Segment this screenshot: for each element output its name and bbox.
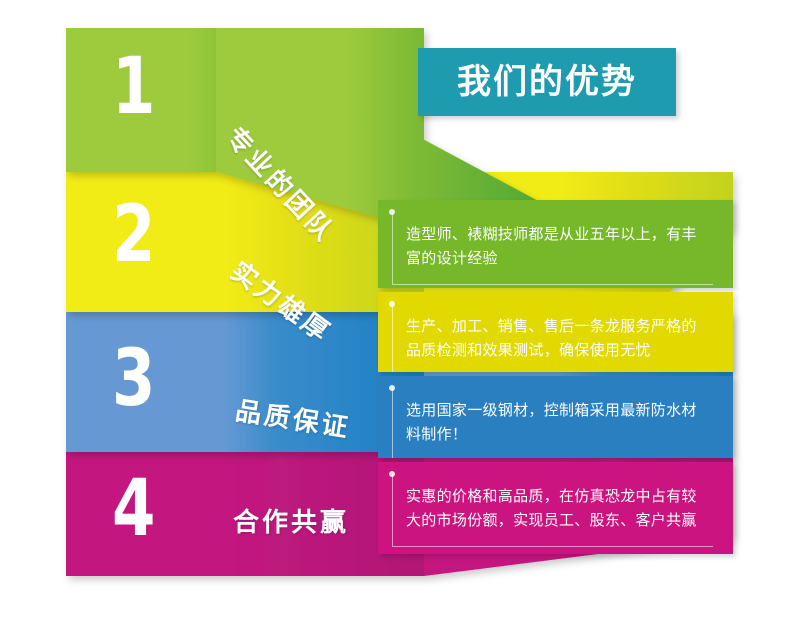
ribbon-label-4: 合作共赢 bbox=[233, 502, 349, 539]
infographic-canvas: 我们的优势 1 2 3 4 专业的团队 实力雄厚 品质保证 合作共赢 造型师、裱… bbox=[0, 0, 800, 622]
ribbon-number-2: 2 bbox=[112, 196, 155, 274]
panel-dot-icon-2 bbox=[389, 301, 395, 307]
panel-text-2: 生产、加工、销售、售后一条龙服务严格的品质检测和效果测试，确保使用无忧 bbox=[406, 314, 706, 362]
detail-panel-1: 造型师、裱糊技师都是从业五年以上，有丰富的设计经验 bbox=[378, 200, 733, 288]
panel-text-1: 造型师、裱糊技师都是从业五年以上，有丰富的设计经验 bbox=[406, 222, 706, 270]
panel-dot-icon-1 bbox=[389, 209, 395, 215]
panel-dot-icon-4 bbox=[389, 471, 395, 477]
detail-panel-2: 生产、加工、销售、售后一条龙服务严格的品质检测和效果测试，确保使用无忧 bbox=[378, 292, 733, 372]
page-title: 我们的优势 bbox=[457, 65, 637, 99]
ribbon-number-4: 4 bbox=[112, 470, 155, 548]
detail-panel-4: 实惠的价格和高品质，在仿真恐龙中占有较大的市场份额，实现员工、股东、客户共赢 bbox=[378, 462, 733, 554]
panel-dot-icon-3 bbox=[389, 385, 395, 391]
panel-text-3: 选用国家一级钢材，控制箱采用最新防水材料制作！ bbox=[406, 398, 706, 446]
ribbon-number-1: 1 bbox=[112, 48, 155, 126]
page-title-banner: 我们的优势 bbox=[418, 48, 676, 116]
panel-text-4: 实惠的价格和高品质，在仿真恐龙中占有较大的市场份额，实现员工、股东、客户共赢 bbox=[406, 484, 706, 532]
detail-panel-3: 选用国家一级钢材，控制箱采用最新防水材料制作！ bbox=[378, 376, 733, 458]
ribbon-number-3: 3 bbox=[112, 340, 155, 418]
